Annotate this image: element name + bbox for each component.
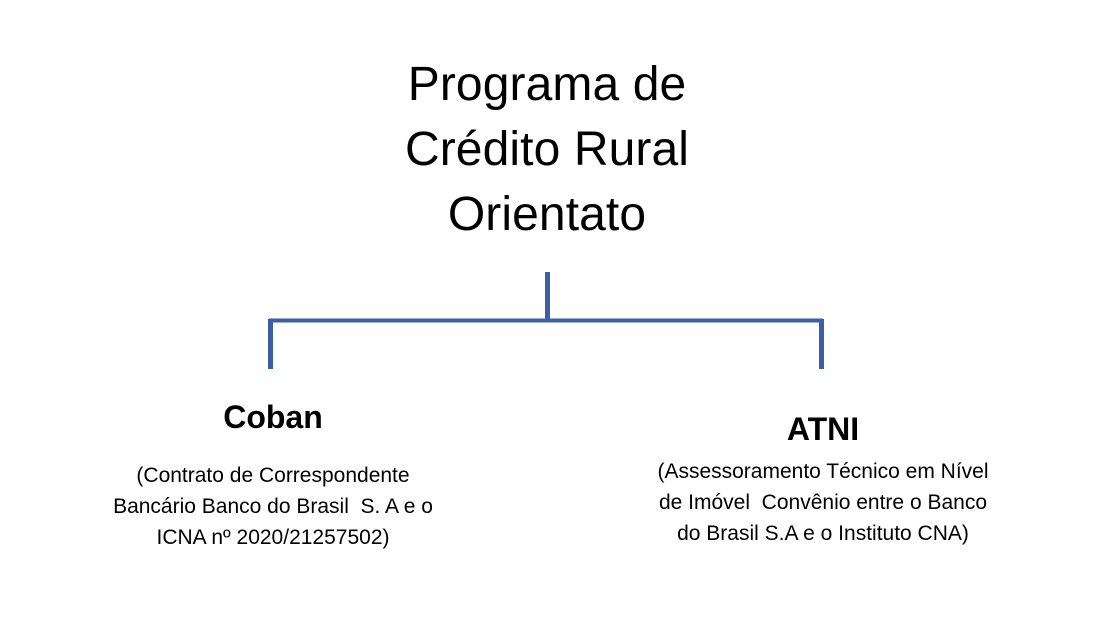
coban-desc-line-2: Bancário Banco do Brasil S. A e o [33,491,513,522]
atni-desc-line-1: (Assessoramento Técnico em Nível [573,456,1073,487]
child-node-coban: Coban (Contrato de Correspondente Bancár… [33,396,513,553]
atni-desc-line-3: do Brasil S.A e o Instituto CNA) [573,518,1073,549]
org-chart-diagram: Programa de Crédito Rural Orientato Coba… [0,0,1108,624]
root-node-title: Programa de Crédito Rural Orientato [297,52,797,247]
root-title-line-1: Programa de [297,52,797,117]
child-node-atni-description: (Assessoramento Técnico em Nível de Imóv… [573,456,1073,549]
root-title-line-2: Crédito Rural [297,117,797,182]
child-node-atni: ATNI (Assessoramento Técnico em Nível de… [573,408,1073,549]
atni-desc-line-2: de Imóvel Convênio entre o Banco [573,487,1073,518]
child-node-atni-title: ATNI [573,408,1073,450]
root-title-line-3: Orientato [297,182,797,247]
coban-desc-line-3: ICNA nº 2020/21257502) [33,522,513,553]
coban-desc-line-1: (Contrato de Correspondente [33,460,513,491]
child-node-coban-title: Coban [33,396,513,438]
child-node-coban-description: (Contrato de Correspondente Bancário Ban… [33,460,513,553]
